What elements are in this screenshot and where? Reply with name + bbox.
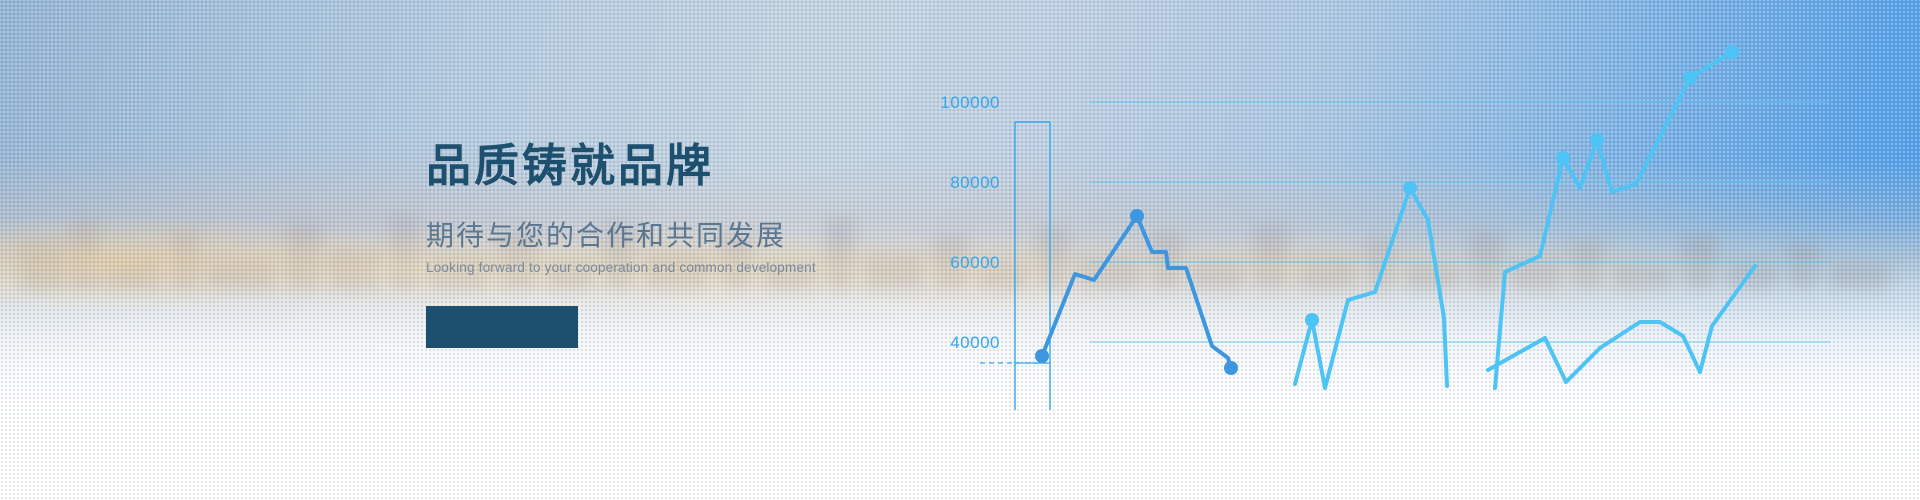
line-chart: 400006000080000100000 bbox=[0, 0, 1920, 500]
series-marker bbox=[1305, 313, 1319, 327]
series-marker bbox=[1035, 349, 1049, 363]
series-line-series-2 bbox=[1295, 188, 1447, 388]
series-marker bbox=[1224, 361, 1238, 375]
series-marker bbox=[1556, 151, 1570, 165]
promo-banner: 400006000080000100000 品质铸就品牌 期待与您的合作和共同发… bbox=[0, 0, 1920, 500]
chart-gridlines bbox=[1090, 102, 1830, 342]
series-marker bbox=[1590, 133, 1604, 147]
series-marker bbox=[1683, 71, 1697, 85]
page-title: 品质铸就品牌 bbox=[426, 140, 886, 192]
chart-series-group bbox=[1035, 45, 1755, 388]
banner-subtitle: 期待与您的合作和共同发展 bbox=[426, 214, 886, 254]
series-marker bbox=[1403, 181, 1417, 195]
series-line-series-4 bbox=[1488, 266, 1755, 382]
banner-copy: 品质铸就品牌 期待与您的合作和共同发展 Looking forward to y… bbox=[426, 140, 886, 275]
y-tick-label: 60000 bbox=[950, 253, 1000, 272]
y-tick-label: 80000 bbox=[950, 173, 1000, 192]
series-marker bbox=[1725, 45, 1739, 59]
chart-y-tick-labels: 400006000080000100000 bbox=[940, 93, 1000, 352]
series-marker bbox=[1130, 209, 1144, 223]
banner-subtitle-english: Looking forward to your cooperation and … bbox=[426, 260, 886, 275]
y-tick-label: 100000 bbox=[940, 93, 1000, 112]
cta-button[interactable] bbox=[426, 306, 578, 348]
series-line-series-1 bbox=[1042, 216, 1231, 368]
y-tick-label: 40000 bbox=[950, 333, 1000, 352]
